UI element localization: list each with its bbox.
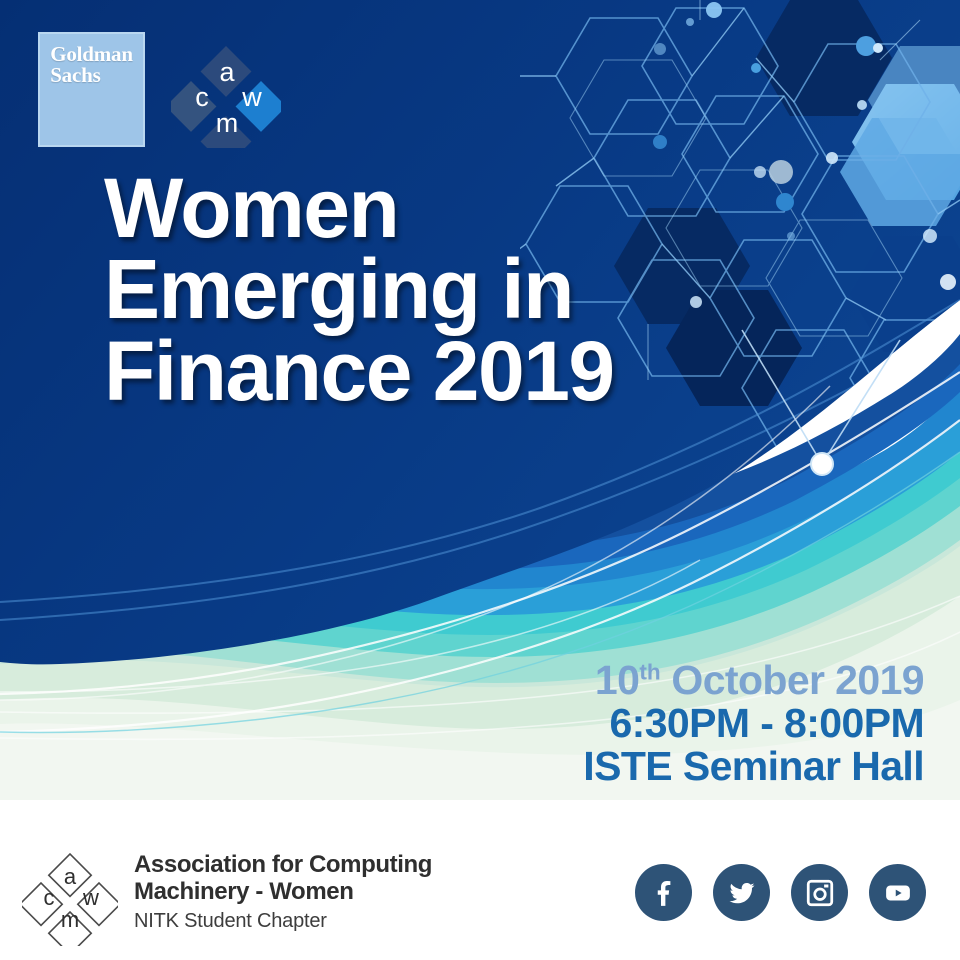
- goldman-sachs-line1: Goldman: [50, 44, 133, 65]
- event-date-day: 10: [595, 657, 639, 703]
- svg-text:m: m: [61, 907, 79, 932]
- svg-text:m: m: [216, 108, 239, 138]
- svg-text:a: a: [64, 864, 77, 889]
- acm-w-outline-logo: a c w m: [22, 846, 118, 946]
- headline-line-1: Women: [104, 168, 614, 249]
- social-links: [635, 864, 926, 921]
- svg-text:w: w: [241, 82, 262, 112]
- event-venue: ISTE Seminar Hall: [583, 746, 924, 788]
- event-poster: Goldman Sachs: [0, 0, 960, 960]
- organizer-chapter: NITK Student Chapter: [134, 909, 432, 933]
- svg-text:a: a: [219, 57, 235, 87]
- organizer-name-line2: Machinery - Women: [134, 879, 432, 906]
- youtube-icon: [883, 878, 913, 908]
- youtube-link[interactable]: [869, 864, 926, 921]
- event-date-ordinal: th: [639, 659, 660, 684]
- event-date-rest: October 2019: [661, 657, 924, 703]
- svg-text:c: c: [44, 885, 55, 910]
- instagram-link[interactable]: [791, 864, 848, 921]
- instagram-icon: [805, 878, 835, 908]
- twitter-link[interactable]: [713, 864, 770, 921]
- acm-w-diamond-logo: a c w m: [171, 36, 281, 148]
- organizer-block: a c w m Association for Computing Machin…: [22, 846, 432, 946]
- event-date: 10th October 2019: [583, 660, 924, 702]
- headline-line-3: Finance 2019: [104, 331, 614, 412]
- headline-line-2: Emerging in: [104, 249, 614, 330]
- facebook-link[interactable]: [635, 864, 692, 921]
- partner-logos: Goldman Sachs: [38, 32, 281, 152]
- facebook-icon: [649, 878, 679, 908]
- event-details: 10th October 2019 6:30PM - 8:00PM ISTE S…: [583, 660, 924, 787]
- organizer-name-line1: Association for Computing: [134, 852, 432, 879]
- twitter-icon: [727, 878, 757, 908]
- svg-text:w: w: [82, 885, 99, 910]
- page-title: Women Emerging in Finance 2019: [104, 168, 614, 412]
- goldman-sachs-line2: Sachs: [50, 65, 133, 86]
- goldman-sachs-logo: Goldman Sachs: [38, 32, 145, 147]
- event-time: 6:30PM - 8:00PM: [583, 703, 924, 745]
- svg-text:c: c: [195, 82, 209, 112]
